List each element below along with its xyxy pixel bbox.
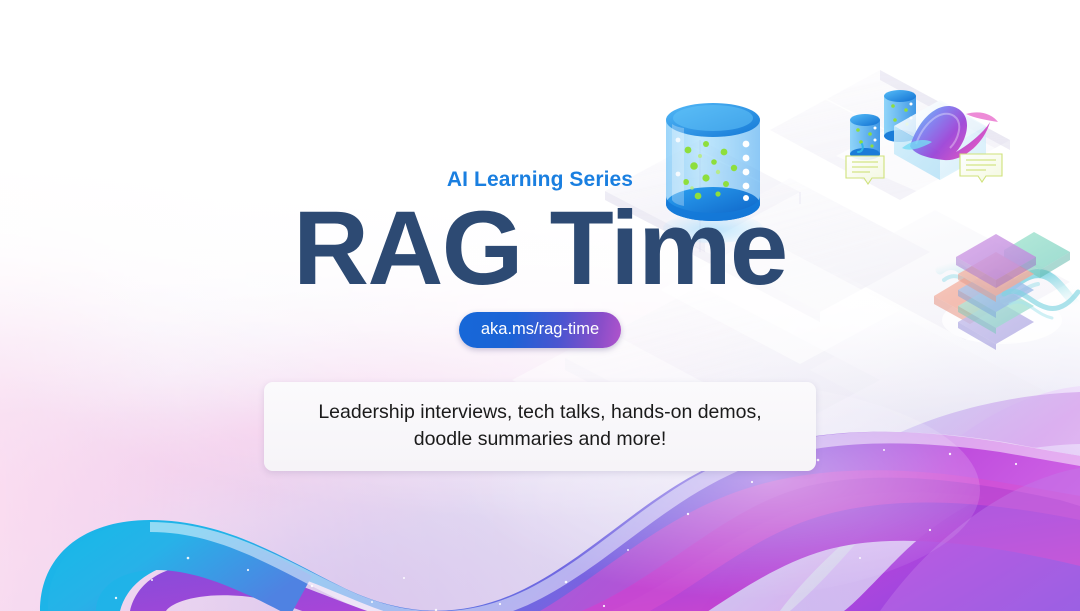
- page-title: RAG Time: [0, 196, 1080, 301]
- slide-canvas: AI Learning Series RAG Time aka.ms/rag-t…: [0, 0, 1080, 611]
- aka-ms-link-badge[interactable]: aka.ms/rag-time: [459, 312, 621, 348]
- series-kicker: AI Learning Series: [0, 168, 1080, 192]
- hero-content: AI Learning Series RAG Time aka.ms/rag-t…: [0, 0, 1080, 611]
- description-container: Leadership interviews, tech talks, hands…: [0, 382, 1080, 471]
- description-text: Leadership interviews, tech talks, hands…: [264, 382, 816, 471]
- link-badge-container: aka.ms/rag-time: [0, 312, 1080, 348]
